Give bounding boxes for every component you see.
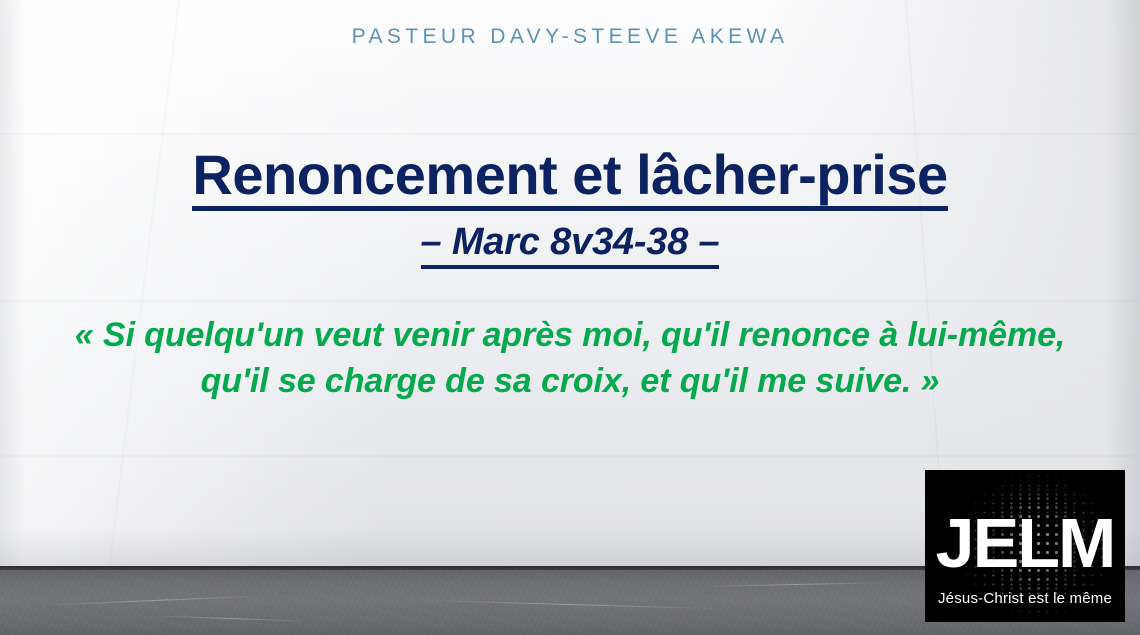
slide-subtitle-reference: – Marc 8v34-38 – [421, 221, 720, 269]
scripture-quote: « Si quelqu'un veut venir après moi, qu'… [60, 312, 1080, 404]
logo-tagline: Jésus-Christ est le même [925, 590, 1125, 607]
title-block: Renoncement et lâcher-prise – Marc 8v34-… [0, 145, 1140, 269]
slide-title: Renoncement et lâcher-prise [192, 145, 947, 211]
subtitle-wrapper: – Marc 8v34-38 – [0, 221, 1140, 269]
logo-wordmark: JELM [925, 508, 1125, 578]
presentation-slide: PASTEUR DAVY-STEEVE AKEWA Renoncement et… [0, 0, 1140, 635]
jelm-logo: JELM Jésus-Christ est le même [925, 470, 1125, 622]
speaker-name: PASTEUR DAVY-STEEVE AKEWA [0, 25, 1140, 49]
